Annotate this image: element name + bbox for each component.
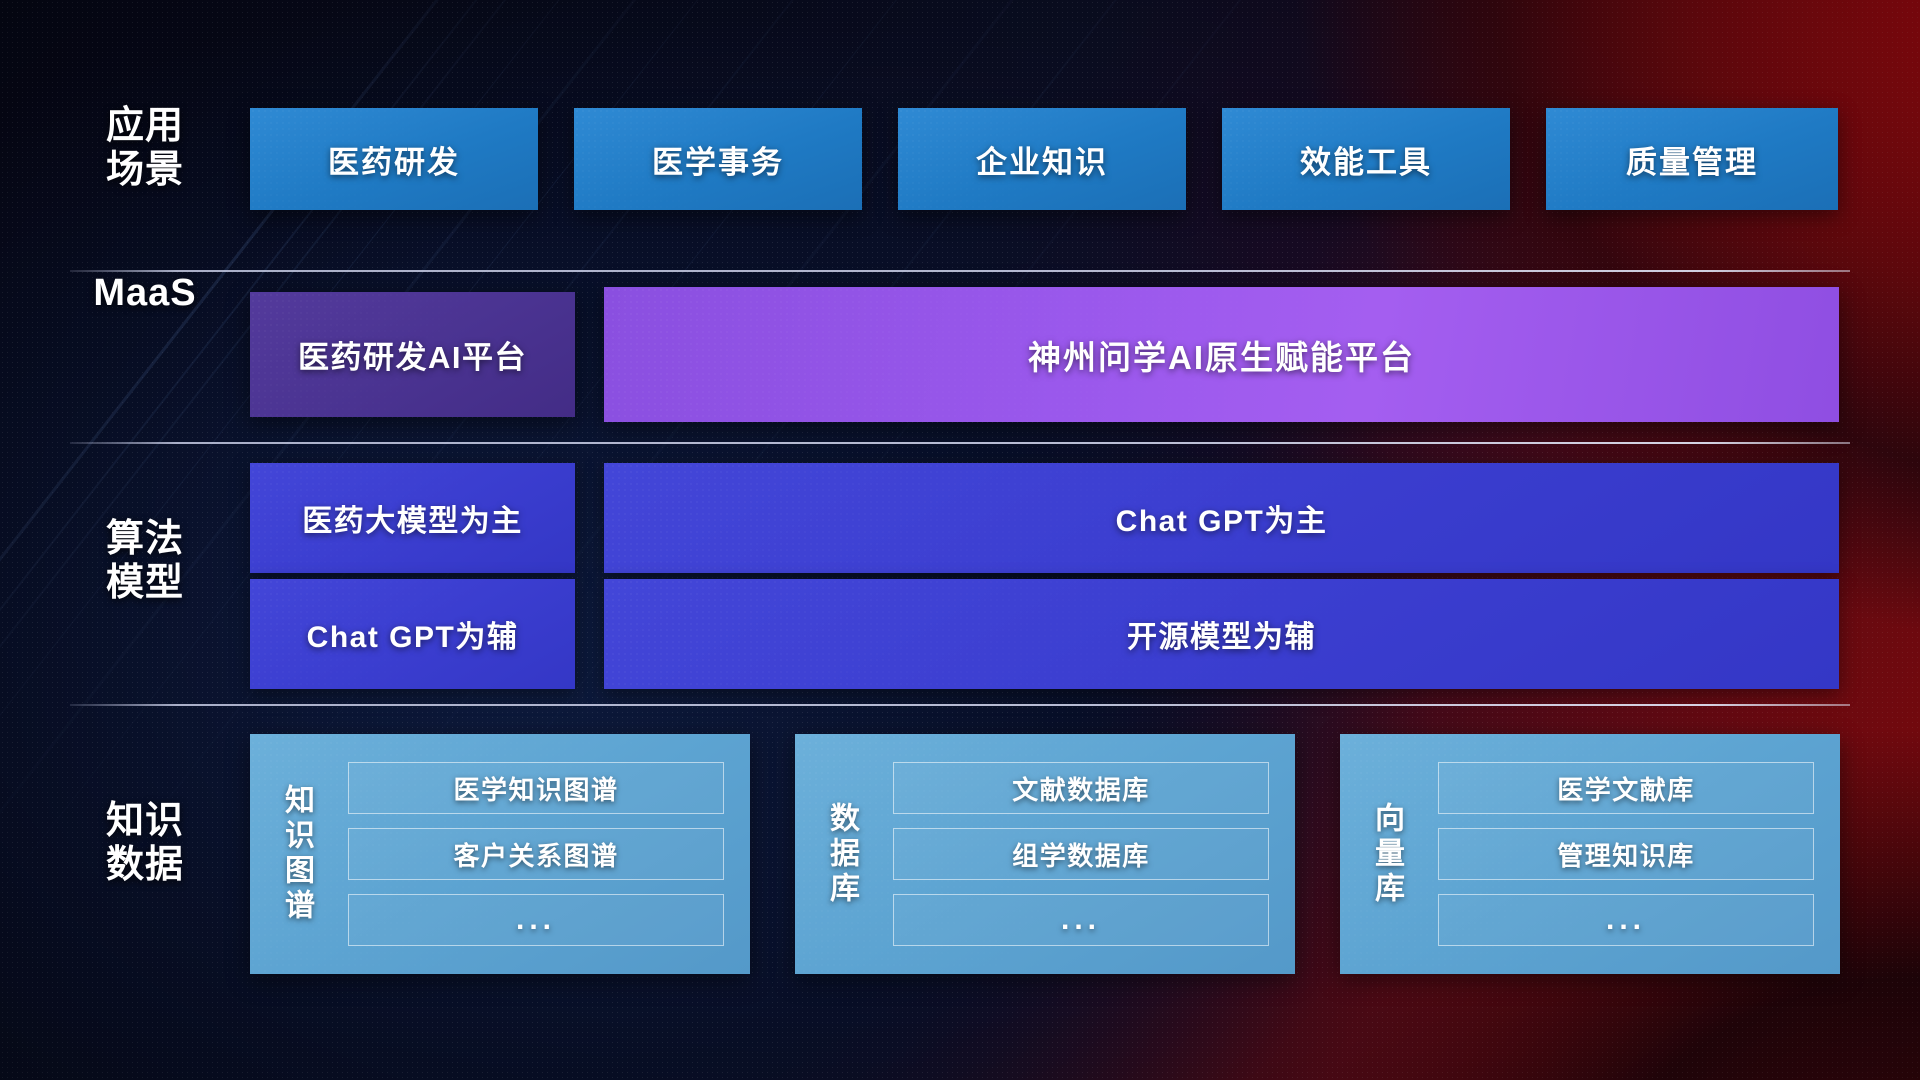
algo-box-chatgpt-secondary-label: Chat GPT为辅 [307, 612, 519, 656]
divider-algorithm-knowledge [70, 704, 1850, 706]
row-label-algorithm: 算法 模型 [70, 518, 220, 605]
row-label-application: 应用 场景 [70, 105, 220, 192]
row-label-knowledge-line2: 数据 [70, 844, 220, 888]
app-box-drug-rd-label: 医药研发 [328, 137, 460, 182]
knowledge-panel-knowledge-graph-label: 知识图谱 [250, 734, 342, 974]
maas-box-shenzhou-wenxue-platform[interactable]: 神州问学AI原生赋能平台 [604, 287, 1839, 422]
knowledge-item-more-vector-store[interactable]: ... [1438, 894, 1814, 946]
app-box-efficiency-tools[interactable]: 效能工具 [1222, 108, 1510, 210]
row-label-knowledge-line1: 知识 [70, 800, 220, 844]
knowledge-panel-knowledge-graph-items: 医学知识图谱 客户关系图谱 ... [342, 734, 750, 974]
knowledge-panel-vector-store[interactable]: 向量库 医学文献库 管理知识库 ... [1340, 734, 1840, 974]
row-label-algorithm-line1: 算法 [70, 518, 220, 562]
row-label-maas-text: MaaS [70, 272, 220, 316]
app-box-quality-management-label: 质量管理 [1626, 137, 1758, 182]
algo-box-chatgpt-primary-label: Chat GPT为主 [1116, 496, 1328, 540]
knowledge-panel-knowledge-graph[interactable]: 知识图谱 医学知识图谱 客户关系图谱 ... [250, 734, 750, 974]
maas-box-shenzhou-wenxue-platform-label: 神州问学AI原生赋能平台 [1028, 331, 1415, 379]
knowledge-item-more-knowledge-graph[interactable]: ... [348, 894, 724, 946]
app-box-medical-affairs-label: 医学事务 [652, 137, 784, 182]
knowledge-panel-vector-store-items: 医学文献库 管理知识库 ... [1432, 734, 1840, 974]
algo-box-pharma-llm-primary[interactable]: 医药大模型为主 [250, 463, 575, 573]
knowledge-item-customer-relation-graph[interactable]: 客户关系图谱 [348, 828, 724, 880]
app-box-drug-rd[interactable]: 医药研发 [250, 108, 538, 210]
knowledge-panel-database-label: 数据库 [795, 734, 887, 974]
algo-box-opensource-secondary-label: 开源模型为辅 [1127, 612, 1316, 656]
row-label-maas: MaaS [70, 272, 220, 316]
algo-box-chatgpt-secondary[interactable]: Chat GPT为辅 [250, 579, 575, 689]
divider-maas-algorithm [70, 442, 1850, 444]
row-label-algorithm-line2: 模型 [70, 562, 220, 606]
maas-box-drug-rd-ai-platform-label: 医药研发AI平台 [298, 332, 527, 377]
knowledge-item-more-database[interactable]: ... [893, 894, 1269, 946]
row-label-application-line1: 应用 [70, 105, 220, 149]
knowledge-item-management-knowledge-store[interactable]: 管理知识库 [1438, 828, 1814, 880]
maas-box-drug-rd-ai-platform[interactable]: 医药研发AI平台 [250, 292, 575, 417]
app-box-enterprise-knowledge-label: 企业知识 [976, 137, 1108, 182]
app-box-enterprise-knowledge[interactable]: 企业知识 [898, 108, 1186, 210]
knowledge-panel-vector-store-label: 向量库 [1340, 734, 1432, 974]
row-label-application-line2: 场景 [70, 149, 220, 193]
divider-application-maas [70, 270, 1850, 272]
knowledge-item-medical-knowledge-graph[interactable]: 医学知识图谱 [348, 762, 724, 814]
algo-box-pharma-llm-primary-label: 医药大模型为主 [302, 496, 523, 540]
app-box-medical-affairs[interactable]: 医学事务 [574, 108, 862, 210]
algo-box-chatgpt-primary[interactable]: Chat GPT为主 [604, 463, 1839, 573]
app-box-efficiency-tools-label: 效能工具 [1300, 137, 1432, 182]
knowledge-panel-database-items: 文献数据库 组学数据库 ... [887, 734, 1295, 974]
knowledge-item-omics-database[interactable]: 组学数据库 [893, 828, 1269, 880]
knowledge-item-medical-literature-store[interactable]: 医学文献库 [1438, 762, 1814, 814]
app-box-quality-management[interactable]: 质量管理 [1546, 108, 1838, 210]
algo-box-opensource-secondary[interactable]: 开源模型为辅 [604, 579, 1839, 689]
knowledge-panel-database[interactable]: 数据库 文献数据库 组学数据库 ... [795, 734, 1295, 974]
knowledge-item-literature-database[interactable]: 文献数据库 [893, 762, 1269, 814]
row-label-knowledge: 知识 数据 [70, 800, 220, 887]
